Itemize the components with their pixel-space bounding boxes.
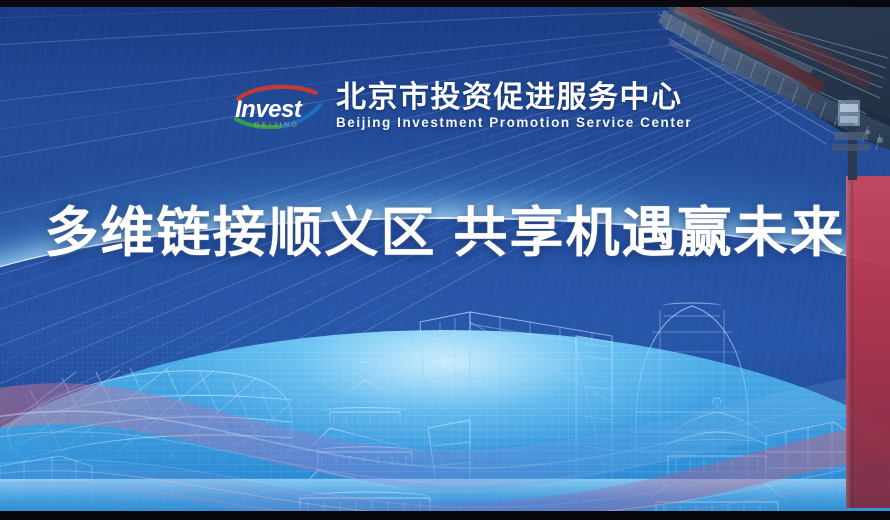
invest-beijing-logo-icon: Invest BEIJING (232, 83, 324, 131)
letterbox-top (0, 0, 890, 7)
letterbox-bottom (0, 511, 890, 520)
svg-text:BEIJING: BEIJING (254, 120, 299, 129)
org-name-cn: 北京市投资促进服务中心 (336, 82, 692, 114)
headline-text: 多维链接顺义区 共享机遇赢未来 (44, 205, 845, 262)
slide-headline: 多维链接顺义区 共享机遇赢未来 (0, 205, 890, 262)
slide-canvas: Invest BEIJING 北京市投资促进服务中心 Beijing Inves… (0, 0, 890, 520)
brand-lockup: Invest BEIJING 北京市投资促进服务中心 Beijing Inves… (232, 82, 692, 131)
svg-text:Invest: Invest (235, 96, 303, 123)
light-ribbons-decor (0, 270, 890, 520)
org-name-en: Beijing Investment Promotion Service Cen… (336, 116, 692, 131)
